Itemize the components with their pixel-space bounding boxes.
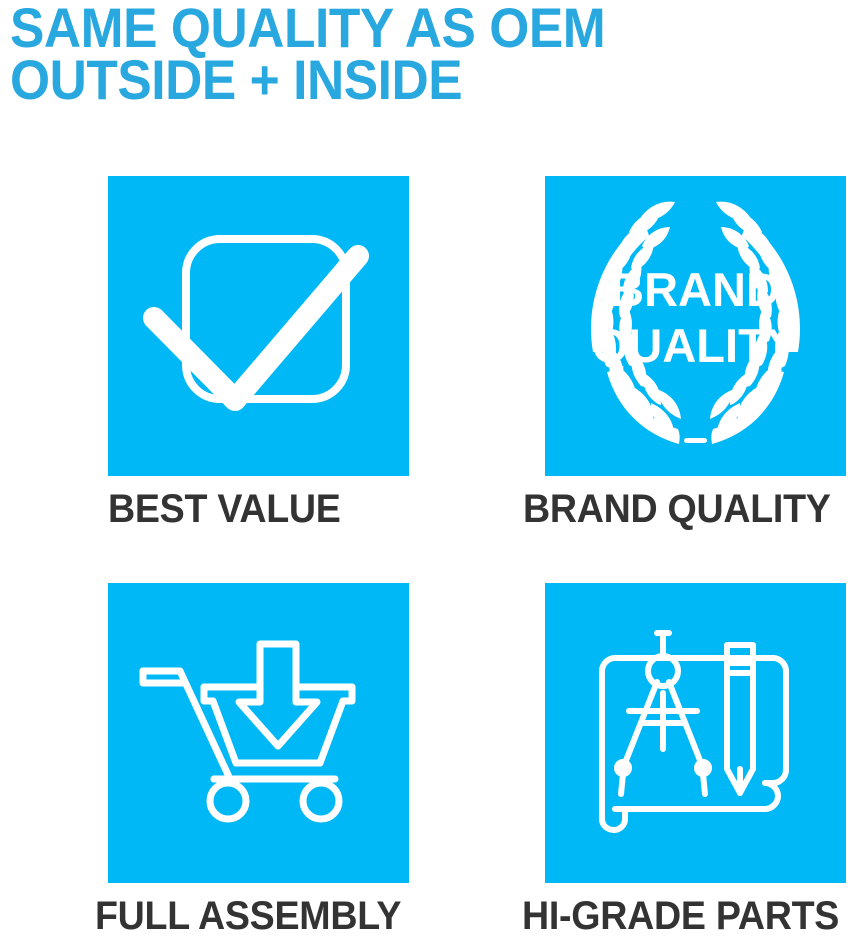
feature-item-brand-quality: BRAND QUALITY BRAND QUALITY [545, 176, 846, 531]
feature-item-best-value: BEST VALUE [108, 176, 409, 531]
shopping-cart-download-icon [108, 583, 409, 883]
feature-caption-best-value: BEST VALUE [108, 487, 391, 531]
feature-tile-hi-grade-parts [545, 583, 846, 883]
feature-caption-hi-grade-parts: HI-GRADE PARTS [522, 894, 827, 938]
feature-item-hi-grade-parts: HI-GRADE PARTS [545, 583, 846, 938]
feature-tile-full-assembly [108, 583, 409, 883]
feature-tile-brand-quality: BRAND QUALITY [545, 176, 846, 476]
feature-tile-best-value [108, 176, 409, 476]
wreath-label-line-2: QUALITY [592, 319, 798, 372]
feature-caption-full-assembly: FULL ASSEMBLY [95, 894, 390, 938]
feature-caption-brand-quality: BRAND QUALITY [523, 487, 827, 531]
feature-item-full-assembly: FULL ASSEMBLY [108, 583, 409, 938]
wreath-label-line-1: BRAND [610, 263, 780, 316]
laurel-wreath-icon: BRAND QUALITY [545, 176, 846, 476]
blueprint-compass-pencil-icon [545, 583, 846, 883]
feature-grid: BEST VALUE [0, 0, 862, 929]
checkbox-check-icon [108, 176, 409, 476]
